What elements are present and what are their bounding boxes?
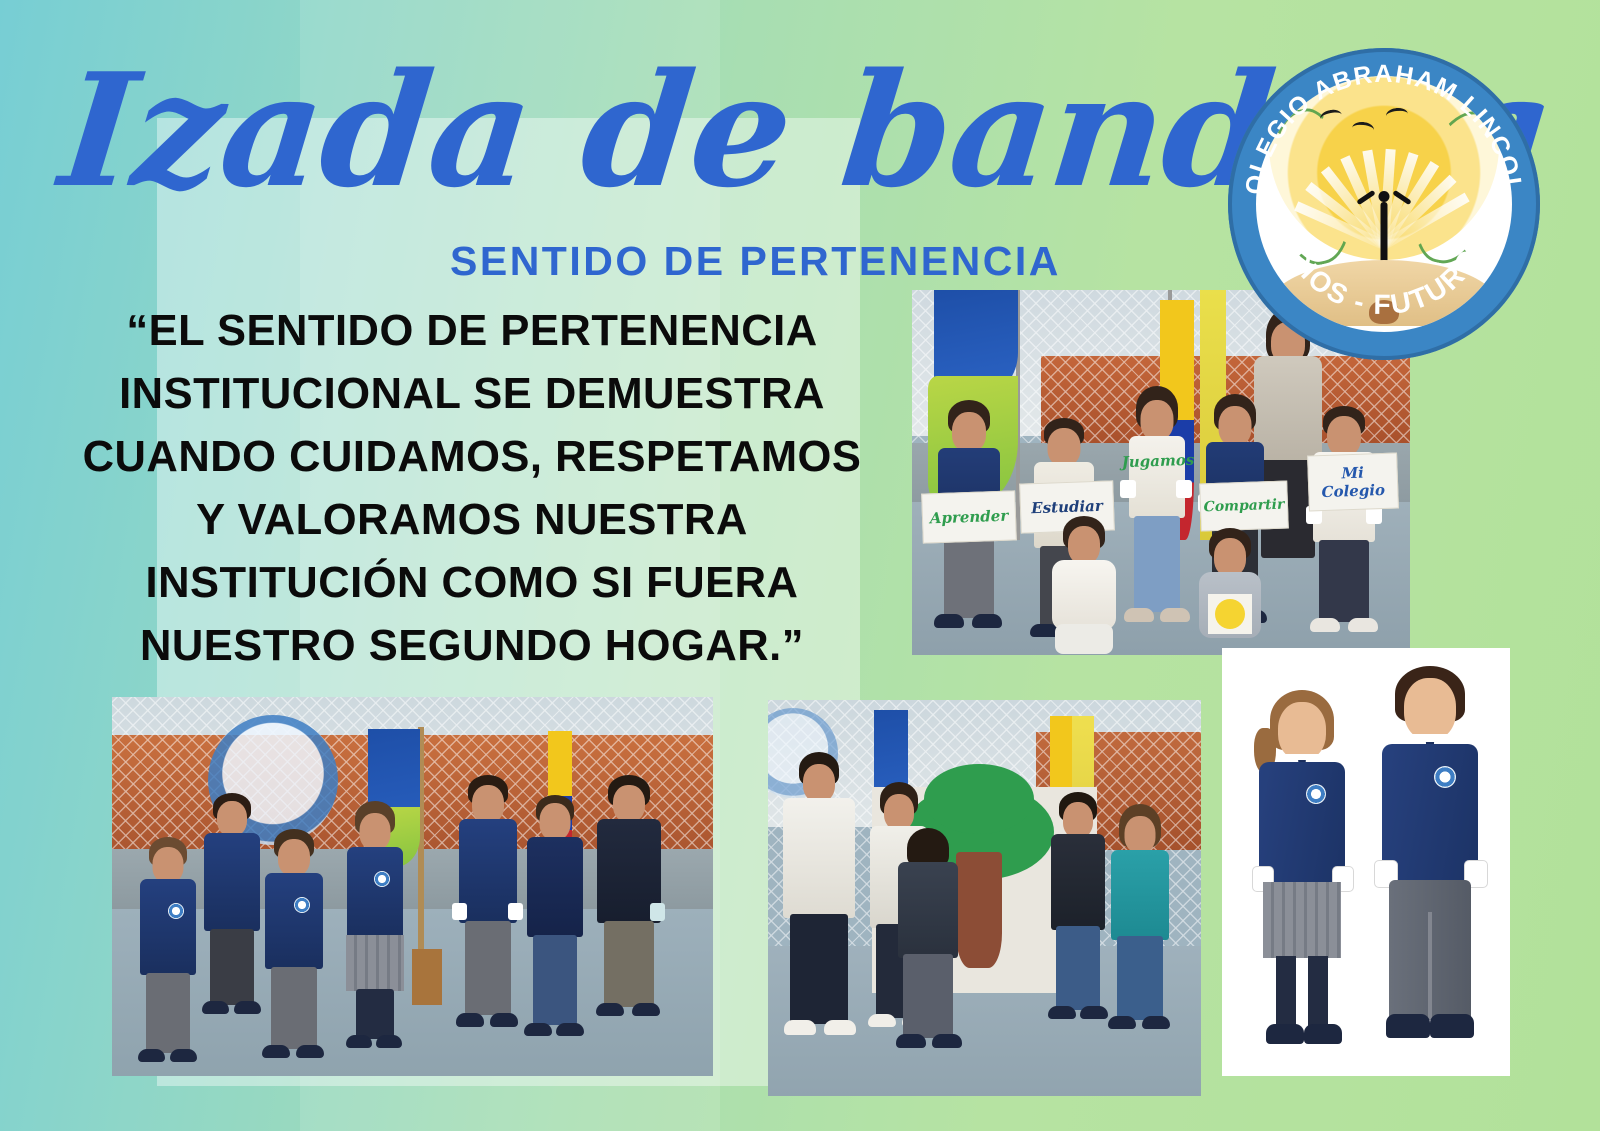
white-glove [1176, 480, 1192, 498]
seal-top-text: COLEGIO ABRAHAM LINCOLN [1228, 48, 1528, 196]
illustration-school-uniform [1222, 648, 1510, 1076]
uniform-figure-boy [1372, 662, 1488, 1066]
person-seated-girl-left [1046, 516, 1122, 655]
student [134, 837, 202, 1076]
page-title: Izada de bandera [53, 52, 1251, 222]
sign-compartir: Compartir [1199, 480, 1289, 531]
page-subtitle: SENTIDO DE PERTENENCIA [450, 238, 1090, 285]
student [590, 775, 668, 1045]
photo-tree-mural [768, 700, 1201, 1096]
quote-line: INSTITUCIÓN COMO SI FUERA [62, 552, 882, 615]
school-logo: COLEGIO ABRAHAM LINCOLN DIOS - FUTURO [1228, 48, 1540, 360]
sign-aprender: Aprender [921, 490, 1017, 543]
svg-text:COLEGIO ABRAHAM LINCOLN: COLEGIO ABRAHAM LINCOLN [1228, 48, 1528, 196]
mural-tree-crown [924, 764, 1034, 834]
seal-bottom-text: DIOS - FUTURO [1282, 242, 1486, 320]
white-glove [452, 903, 467, 920]
photo-student-formation [112, 697, 713, 1076]
student-badge [168, 903, 184, 919]
student-badge [374, 871, 390, 887]
uniform-badge [1306, 784, 1326, 804]
person-seated-girl-right [1192, 528, 1268, 655]
smiley-icon [1215, 599, 1245, 629]
smiley-sign [1208, 594, 1252, 634]
student [520, 795, 590, 1063]
student [198, 793, 266, 1033]
white-glove [650, 903, 665, 921]
uniform-badge [1434, 766, 1456, 788]
student [258, 829, 330, 1076]
flag-base [412, 949, 442, 1005]
person-child [892, 828, 964, 1058]
quote-block: “EL SENTIDO DE PERTENENCIA INSTITUCIONAL… [62, 300, 882, 678]
poster-canvas: Izada de bandera SENTIDO DE PERTENENCIA … [0, 0, 1600, 1131]
seal-text: COLEGIO ABRAHAM LINCOLN DIOS - FUTURO [1228, 48, 1540, 360]
quote-line: CUANDO CUIDAMOS, RESPETAMOS [62, 426, 882, 489]
svg-text:DIOS - FUTURO: DIOS - FUTURO [1282, 242, 1486, 320]
quote-line: Y VALORAMOS NUESTRA [62, 489, 882, 552]
quote-line: “EL SENTIDO DE PERTENENCIA [62, 300, 882, 363]
person-child [1044, 792, 1112, 1042]
person-child-mi-colegio [1304, 406, 1384, 655]
person-child-jugamos [1120, 386, 1194, 652]
student [340, 801, 410, 1056]
uniform-figure-girl [1250, 684, 1354, 1064]
person-child [1104, 804, 1176, 1050]
person-teacher [778, 752, 860, 1052]
student [452, 775, 524, 1055]
quote-line: NUESTRO SEGUNDO HOGAR.” [62, 615, 882, 678]
sign-mi-colegio: Mi Colegio [1307, 452, 1399, 511]
quote-line: INSTITUCIONAL SE DEMUESTRA [62, 363, 882, 426]
sign-jugamos: Jugamos [1117, 439, 1198, 484]
student-badge [294, 897, 310, 913]
